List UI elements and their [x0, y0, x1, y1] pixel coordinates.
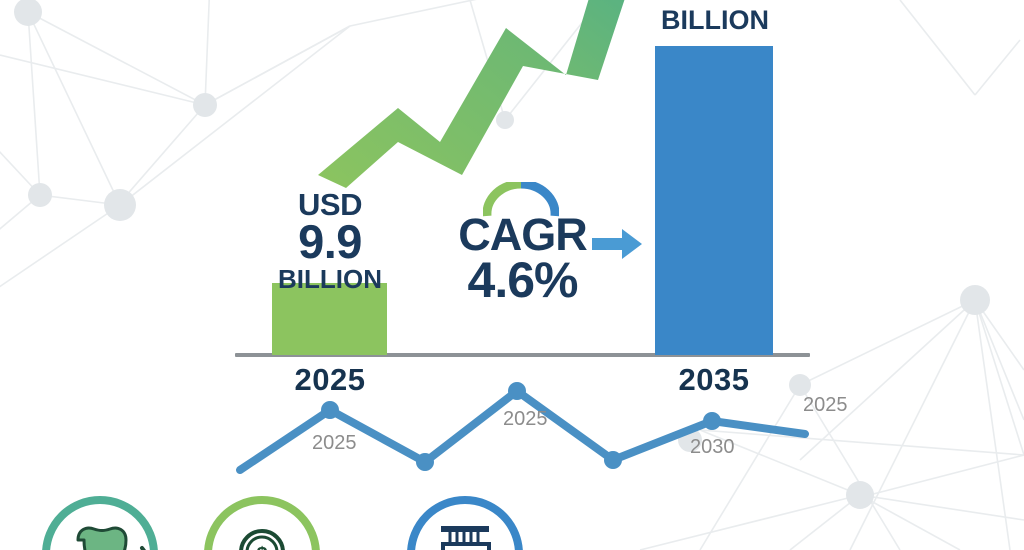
growth-arrow-icon	[280, 0, 680, 200]
cagr-label: CAGR	[440, 214, 605, 255]
line-point	[508, 382, 526, 400]
value-2025: 9.9	[268, 220, 392, 265]
axis-label-2025: 2025	[270, 362, 390, 398]
cagr-value: 4.6%	[440, 257, 605, 303]
bar-2035	[655, 46, 773, 355]
cagr-text-block: CAGR 4.6%	[440, 214, 605, 303]
svg-text:$: $	[256, 544, 267, 550]
value-label-2025: USD 9.9 BILLION	[268, 190, 392, 292]
line-point	[604, 451, 622, 469]
factory-building-icon	[411, 500, 519, 550]
axis-label-2035: 2035	[653, 362, 775, 398]
bottom-icon-row: $	[0, 492, 1024, 550]
line-label-2: 2025	[503, 408, 548, 431]
unit-2035: BILLION	[640, 8, 790, 34]
line-label-4: 2025	[803, 394, 848, 417]
line-label-1: 2025	[312, 432, 357, 455]
line-point	[321, 401, 339, 419]
dollar-coin-icon: $	[208, 500, 316, 550]
line-label-3: 2030	[690, 436, 735, 459]
cagr-right-arrow-icon	[592, 227, 644, 261]
unit-2025: BILLION	[268, 267, 392, 292]
tooth-icon	[46, 500, 154, 550]
line-point	[703, 412, 721, 430]
infographic-canvas: USD 9.9 BILLION 12.3 BILLION 2025 2035 C…	[0, 0, 1024, 550]
line-point	[416, 453, 434, 471]
value-label-2035: 12.3 BILLION	[640, 0, 790, 33]
